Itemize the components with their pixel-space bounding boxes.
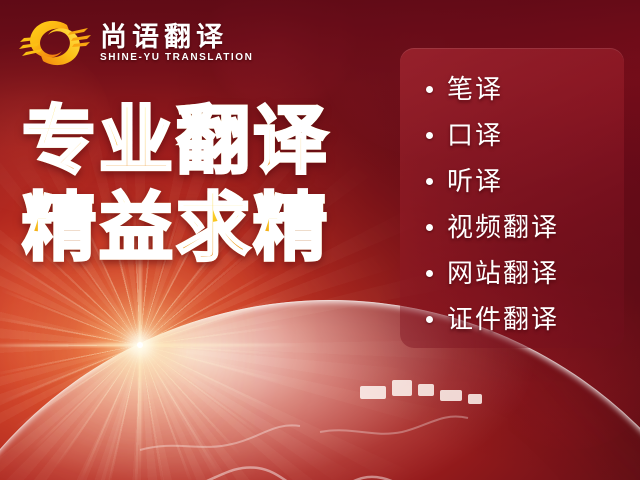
headline-block: 专业翻译 精益求精 <box>22 104 402 265</box>
brand-name-cn: 尚语翻译 <box>100 24 253 51</box>
service-item: 证件翻译 <box>400 296 624 342</box>
bullet-icon <box>426 224 433 231</box>
services-panel: 笔译 口译 听译 视频翻译 网站翻译 证件翻译 <box>400 48 624 348</box>
bullet-icon <box>426 178 433 185</box>
service-label: 听译 <box>447 168 503 194</box>
service-item: 听译 <box>400 158 624 204</box>
service-label: 视频翻译 <box>447 214 559 240</box>
bullet-icon <box>426 132 433 139</box>
flare-core <box>137 342 143 348</box>
brand-logo: 尚语翻译 SHINE-YU TRANSLATION <box>18 12 253 74</box>
bullet-icon <box>426 86 433 93</box>
service-item: 视频翻译 <box>400 204 624 250</box>
bullet-icon <box>426 270 433 277</box>
headline-line-2: 精益求精 <box>22 191 402 264</box>
poster-canvas: 尚语翻译 SHINE-YU TRANSLATION 专业翻译 精益求精 笔译 口… <box>0 0 640 480</box>
service-item: 口译 <box>400 112 624 158</box>
service-item: 网站翻译 <box>400 250 624 296</box>
service-item: 笔译 <box>400 66 624 112</box>
services-list: 笔译 口译 听译 视频翻译 网站翻译 证件翻译 <box>400 66 624 342</box>
bullet-icon <box>426 316 433 323</box>
service-label: 证件翻译 <box>447 306 559 332</box>
service-label: 口译 <box>447 122 503 148</box>
shine-yu-swirl-logo-icon <box>18 12 92 74</box>
service-label: 笔译 <box>447 76 503 102</box>
service-label: 网站翻译 <box>447 260 559 286</box>
brand-name-en: SHINE-YU TRANSLATION <box>100 53 253 63</box>
brand-text-group: 尚语翻译 SHINE-YU TRANSLATION <box>100 24 253 63</box>
headline-line-1: 专业翻译 <box>22 104 402 177</box>
